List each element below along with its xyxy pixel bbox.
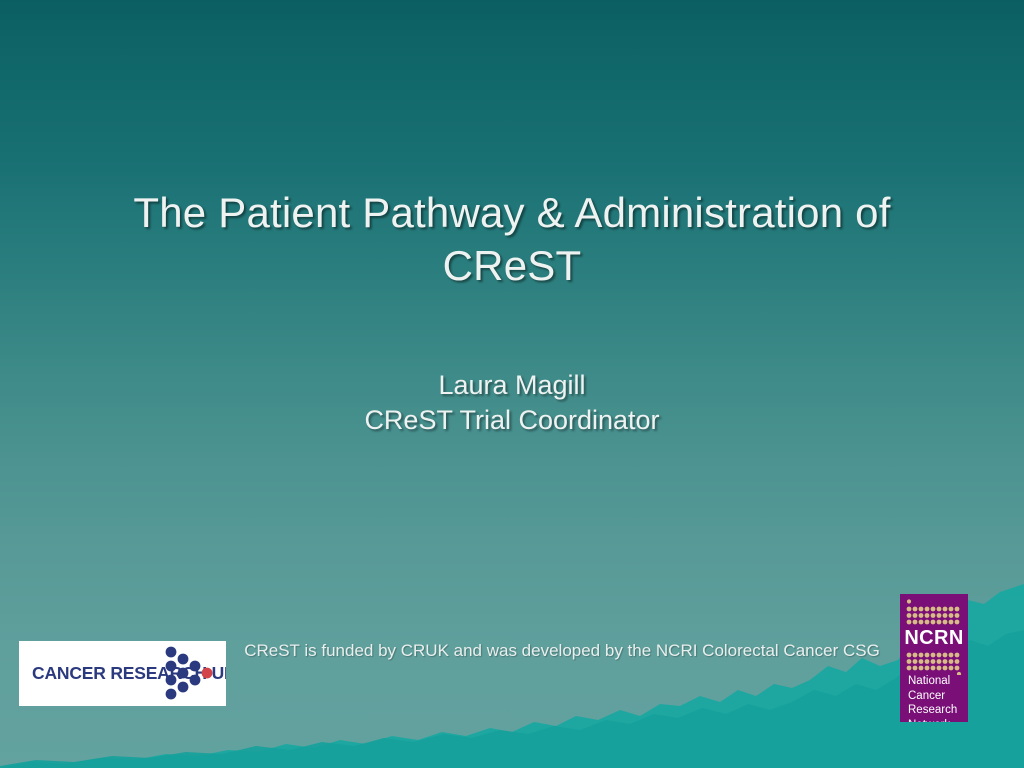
ncrn-tagline-line: National bbox=[908, 674, 968, 689]
ncrn-tagline: National Cancer Research Network bbox=[908, 674, 968, 722]
title-container: The Patient Pathway & Administration of … bbox=[0, 186, 1024, 293]
presentation-slide: The Patient Pathway & Administration of … bbox=[0, 0, 1024, 768]
presenter-role: CReST Trial Coordinator bbox=[0, 403, 1024, 438]
cruk-arrow-dots-icon bbox=[162, 645, 218, 703]
ncrn-tagline-line: Research bbox=[908, 703, 968, 718]
ncrn-acronym: NCRN bbox=[900, 627, 968, 650]
ncrn-dot-grid-bottom-icon bbox=[900, 651, 968, 675]
ncrn-tagline-line: Cancer bbox=[908, 689, 968, 704]
slide-title: The Patient Pathway & Administration of … bbox=[0, 186, 1024, 293]
funding-note: CReST is funded by CRUK and was develope… bbox=[232, 638, 892, 664]
national-cancer-research-network-logo: NCRN National bbox=[900, 594, 968, 722]
ncrn-dot-grid-top-icon bbox=[900, 598, 968, 628]
ncrn-tagline-line: Network bbox=[908, 718, 968, 722]
cancer-research-uk-logo: CANCER RESEARCH UK bbox=[19, 641, 226, 706]
presenter-name: Laura Magill bbox=[0, 368, 1024, 403]
subtitle-container: Laura Magill CReST Trial Coordinator bbox=[0, 368, 1024, 437]
